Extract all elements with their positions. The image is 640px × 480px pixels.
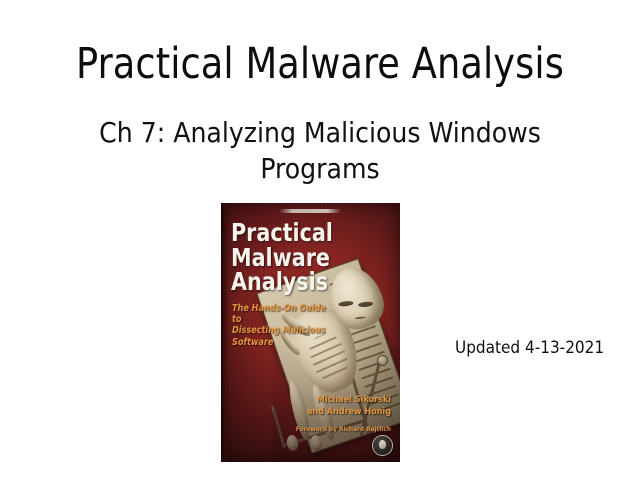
no-starch-press-logo-icon [372, 435, 393, 456]
book-cover-image: Practical Malware Analysis The Hands-On … [221, 203, 400, 462]
slide-subtitle-line1: Ch 7: Analyzing Malicious Windows [99, 116, 541, 149]
cover-subtitle: The Hands-On Guide to Dissecting Malicio… [232, 303, 335, 348]
cover-foreword-credit: Foreword by Richard Bejtlich [283, 426, 391, 434]
slide-subtitle-line2: Programs [70, 151, 570, 187]
cover-subtitle-line1: The Hands-On Guide to [232, 303, 335, 325]
cover-title: Practical Malware Analysis [231, 221, 334, 295]
page-title: Practical Malware Analysis [16, 42, 624, 87]
cover-subtitle-line2: Dissecting Malicious [232, 325, 335, 336]
updated-date-label: Updated 4-13-2021 [455, 338, 604, 358]
cover-author-line1: Michael Sikorski [295, 394, 391, 406]
cover-title-line1: Practical [231, 221, 334, 246]
cover-title-line3: Analysis [231, 270, 334, 295]
cover-subtitle-line3: Software [232, 337, 335, 348]
cover-author-line2: and Andrew Honig [295, 406, 391, 418]
presentation-slide: Practical Malware Analysis Ch 7: Analyzi… [0, 0, 640, 480]
cover-authors: Michael Sikorski and Andrew Honig [295, 394, 391, 418]
cover-top-banner [279, 209, 341, 213]
slide-subtitle: Ch 7: Analyzing Malicious Windows Progra… [70, 115, 570, 187]
